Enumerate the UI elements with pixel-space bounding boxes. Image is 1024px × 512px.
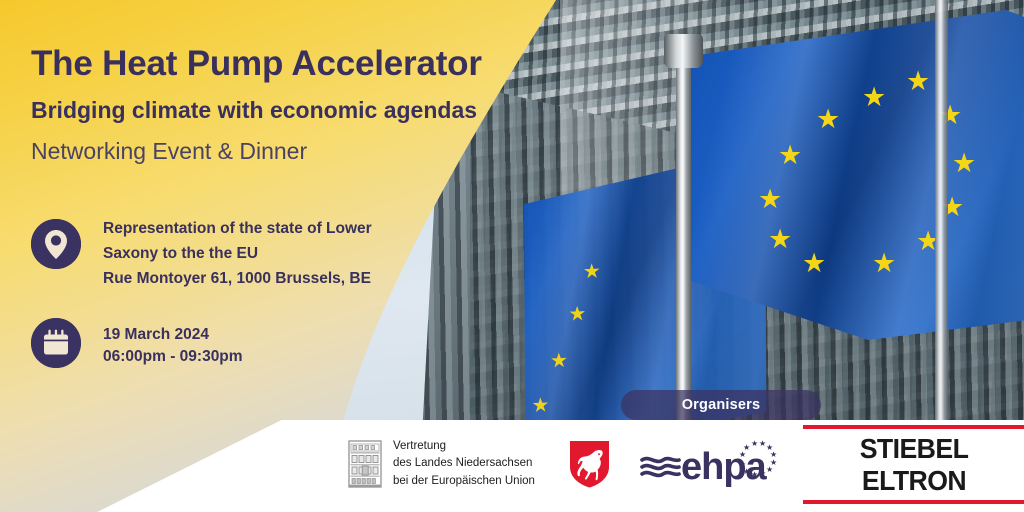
eu-star: ★: [778, 142, 802, 169]
niedersachsen-text: Vertretung des Landes Niedersachsen bei …: [393, 438, 535, 490]
eu-star: ★: [550, 351, 569, 372]
svg-text:★: ★: [759, 469, 766, 478]
organisers-badge: Organisers: [621, 390, 821, 420]
government-building-icon: [348, 440, 382, 488]
logo-stiebel-eltron: STIEBEL ELTRON: [803, 425, 1024, 504]
eu-star: ★: [568, 304, 587, 325]
svg-text:★: ★: [739, 460, 746, 469]
event-tagline: Networking Event & Dinner: [31, 138, 307, 165]
page-title: The Heat Pump Accelerator: [31, 44, 482, 84]
eu-star: ★: [583, 262, 602, 283]
eu-star: ★: [531, 395, 550, 416]
eu-star: ★: [906, 68, 930, 95]
logo-ehpa: ehpa ★ ★ ★ ★ ★ ★ ★ ★ ★ ★ ★ ★: [639, 436, 779, 492]
stiebel-eltron-wordmark: STIEBEL ELTRON: [806, 433, 1021, 497]
saxon-steed-crest: [568, 439, 611, 489]
wave-lines-icon: [642, 459, 679, 476]
logo-niedersachsen-representation: Vertretung des Landes Niedersachsen bei …: [348, 438, 611, 490]
eu-star: ★: [952, 150, 976, 177]
calendar-icon: [31, 318, 81, 368]
eu-star: ★: [758, 186, 782, 213]
svg-text:★: ★: [751, 439, 758, 448]
venue-address: Representation of the state of Lower Sax…: [103, 216, 372, 291]
svg-text:★: ★: [739, 450, 746, 459]
eu-star: ★: [802, 250, 826, 277]
location-pin-icon: [31, 219, 81, 269]
event-date: 19 March 2024: [103, 324, 243, 346]
eu-star: ★: [872, 250, 896, 277]
eu-star: ★: [768, 226, 792, 253]
svg-text:★: ★: [751, 470, 758, 479]
eu-star: ★: [862, 84, 886, 111]
event-subtitle: Bridging climate with economic agendas: [31, 97, 477, 124]
venue-line-2: Saxony to the the EU: [103, 241, 372, 266]
ni-line-2: des Landes Niedersachsen: [393, 455, 535, 472]
schedule-text: 19 March 2024 06:00pm - 09:30pm: [103, 324, 243, 369]
ni-line-3: bei der Europäischen Union: [393, 473, 535, 490]
svg-text:★: ★: [766, 465, 773, 474]
ni-line-1: Vertretung: [393, 438, 535, 455]
venue-line-3: Rue Montoyer 61, 1000 Brussels, BE: [103, 266, 372, 291]
eu-flag-front: ★ ★ ★ ★ ★ ★ ★ ★ ★ ★ ★ ★: [690, 10, 1024, 340]
organiser-logos: Vertretung des Landes Niedersachsen bei …: [348, 428, 1024, 500]
svg-text:ehpa: ehpa: [681, 446, 768, 488]
event-banner: ★ ★ ★ ★ ★ ★ ★ ★ ★ ★ ★ ★ ★ ★ ★ ★ The Heat…: [0, 0, 1024, 512]
eu-star: ★: [816, 106, 840, 133]
venue-line-1: Representation of the state of Lower: [103, 216, 372, 241]
flag-pole-cap: [664, 34, 703, 68]
event-time: 06:00pm - 09:30pm: [103, 346, 243, 368]
